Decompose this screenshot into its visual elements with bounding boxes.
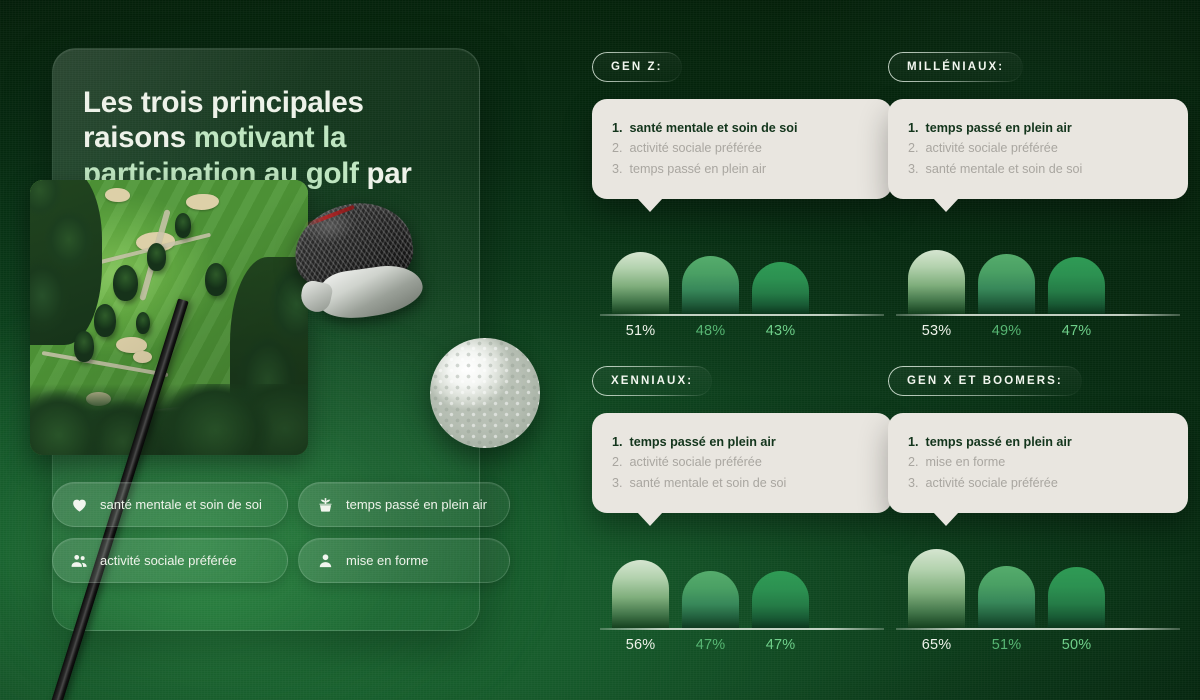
rank-item-1: 1. temps passé en plein air bbox=[908, 432, 1168, 452]
golf-driver-head bbox=[282, 190, 425, 327]
bar bbox=[682, 256, 739, 314]
bar bbox=[978, 254, 1035, 314]
rank-item-1: 1. temps passé en plein air bbox=[908, 118, 1168, 138]
rank-label: santé mentale et soin de soi bbox=[926, 159, 1083, 179]
people-icon bbox=[70, 551, 89, 570]
golf-ball bbox=[430, 338, 540, 448]
bar bbox=[682, 571, 739, 628]
bar bbox=[752, 262, 809, 314]
rank-item-3: 3. santé mentale et soin de soi bbox=[612, 473, 872, 493]
panel-bubble: 1. temps passé en plein air 2. mise en f… bbox=[888, 413, 1188, 513]
title-line-1: Les trois principales bbox=[83, 86, 364, 119]
legend-item-label: temps passé en plein air bbox=[346, 497, 487, 512]
bar-baseline bbox=[600, 628, 884, 630]
rank-label: activité sociale préférée bbox=[630, 138, 762, 158]
legend-item-activite-sociale[interactable]: activité sociale préférée bbox=[52, 538, 288, 583]
bar-track bbox=[888, 543, 1188, 628]
panel-chip: XENNIAUX: bbox=[592, 366, 712, 396]
rank-label: activité sociale préférée bbox=[630, 452, 762, 472]
legend-item-label: activité sociale préférée bbox=[100, 553, 237, 568]
title-line-2-white: raisons bbox=[83, 121, 194, 154]
bar-value-label: 49% bbox=[978, 323, 1035, 339]
bar-chart: 53% 49% 47% bbox=[888, 229, 1188, 336]
rank-number: 1. bbox=[908, 118, 919, 138]
rank-item-2: 2. activité sociale préférée bbox=[612, 452, 872, 472]
panel-xenniaux: XENNIAUX: 1. temps passé en plein air 2.… bbox=[592, 366, 892, 650]
bar bbox=[908, 250, 965, 314]
rank-label: temps passé en plein air bbox=[926, 432, 1072, 452]
rank-item-2: 2. activité sociale préférée bbox=[908, 138, 1168, 158]
legend-row: santé mentale et soin de soi temps passé… bbox=[52, 482, 552, 527]
bar bbox=[1048, 567, 1105, 628]
bar bbox=[978, 566, 1035, 628]
bar-labels: 56% 47% 47% bbox=[592, 637, 892, 653]
panel-bubble: 1. temps passé en plein air 2. activité … bbox=[592, 413, 892, 513]
bar bbox=[1048, 257, 1105, 314]
rank-item-2: 2. mise en forme bbox=[908, 452, 1168, 472]
legend: santé mentale et soin de soi temps passé… bbox=[52, 482, 552, 594]
bar-value-label: 48% bbox=[682, 323, 739, 339]
rank-label: activité sociale préférée bbox=[926, 138, 1058, 158]
bar bbox=[908, 549, 965, 628]
bar-labels: 51% 48% 43% bbox=[592, 323, 892, 339]
legend-item-plein-air[interactable]: temps passé en plein air bbox=[298, 482, 510, 527]
bar bbox=[612, 560, 669, 628]
person-icon bbox=[316, 551, 335, 570]
rank-label: temps passé en plein air bbox=[630, 432, 776, 452]
rank-item-3: 3. santé mentale et soin de soi bbox=[908, 159, 1168, 179]
rank-number: 2. bbox=[908, 452, 919, 472]
rank-label: mise en forme bbox=[926, 452, 1006, 472]
legend-item-label: santé mentale et soin de soi bbox=[100, 497, 262, 512]
bar-chart: 56% 47% 47% bbox=[592, 543, 892, 650]
rank-label: activité sociale préférée bbox=[926, 473, 1058, 493]
bar bbox=[752, 571, 809, 628]
rank-number: 2. bbox=[612, 452, 623, 472]
rank-number: 3. bbox=[612, 159, 623, 179]
rank-number: 1. bbox=[612, 118, 623, 138]
bar-value-label: 47% bbox=[682, 637, 739, 653]
bar-labels: 53% 49% 47% bbox=[888, 323, 1188, 339]
bar-baseline bbox=[600, 314, 884, 316]
legend-row: activité sociale préférée mise en forme bbox=[52, 538, 552, 583]
rank-item-2: 2. activité sociale préférée bbox=[612, 138, 872, 158]
rank-label: santé mentale et soin de soi bbox=[630, 473, 787, 493]
rank-number: 3. bbox=[908, 473, 919, 493]
golf-ball-dimples-highlight bbox=[430, 338, 540, 448]
panel-chip: GEN X ET BOOMERS: bbox=[888, 366, 1082, 396]
bar-track bbox=[592, 229, 892, 314]
panel-gen-z: GEN Z: 1. santé mentale et soin de soi 2… bbox=[592, 52, 892, 336]
bar-value-label: 50% bbox=[1048, 637, 1105, 653]
panel-bubble: 1. santé mentale et soin de soi 2. activ… bbox=[592, 99, 892, 199]
rank-number: 2. bbox=[908, 138, 919, 158]
bar-chart: 51% 48% 43% bbox=[592, 229, 892, 336]
rank-label: temps passé en plein air bbox=[926, 118, 1072, 138]
panel-gen-x-et-boomers: GEN X ET BOOMERS: 1. temps passé en plei… bbox=[888, 366, 1188, 650]
aerial-golf-course-photo bbox=[30, 180, 308, 455]
rank-label: santé mentale et soin de soi bbox=[630, 118, 798, 138]
rank-number: 3. bbox=[612, 473, 623, 493]
legend-item-mise-en-forme[interactable]: mise en forme bbox=[298, 538, 510, 583]
rank-item-1: 1. santé mentale et soin de soi bbox=[612, 118, 872, 138]
bar-labels: 65% 51% 50% bbox=[888, 637, 1188, 653]
bar-chart: 65% 51% 50% bbox=[888, 543, 1188, 650]
bar-value-label: 47% bbox=[752, 637, 809, 653]
bar-value-label: 51% bbox=[978, 637, 1035, 653]
rank-item-3: 3. temps passé en plein air bbox=[612, 159, 872, 179]
panel-milleniaux: MILLÉNIAUX: 1. temps passé en plein air … bbox=[888, 52, 1188, 336]
bar-value-label: 65% bbox=[908, 637, 965, 653]
rank-number: 1. bbox=[908, 432, 919, 452]
rank-item-3: 3. activité sociale préférée bbox=[908, 473, 1168, 493]
panel-bubble: 1. temps passé en plein air 2. activité … bbox=[888, 99, 1188, 199]
bar-track bbox=[592, 543, 892, 628]
photo-shading bbox=[30, 180, 308, 455]
panel-chip: MILLÉNIAUX: bbox=[888, 52, 1023, 82]
bar-value-label: 43% bbox=[752, 323, 809, 339]
bar-track bbox=[888, 229, 1188, 314]
heart-icon bbox=[70, 495, 89, 514]
legend-item-label: mise en forme bbox=[346, 553, 428, 568]
potted-plant-icon bbox=[316, 495, 335, 514]
rank-number: 2. bbox=[612, 138, 623, 158]
rank-label: temps passé en plein air bbox=[630, 159, 767, 179]
bar-value-label: 47% bbox=[1048, 323, 1105, 339]
legend-item-sante-mentale[interactable]: santé mentale et soin de soi bbox=[52, 482, 288, 527]
title-line-3-white: par bbox=[367, 157, 412, 190]
bar-baseline bbox=[896, 314, 1180, 316]
bar-value-label: 56% bbox=[612, 637, 669, 653]
rank-number: 1. bbox=[612, 432, 623, 452]
panel-chip: GEN Z: bbox=[592, 52, 682, 82]
bar-value-label: 53% bbox=[908, 323, 965, 339]
rank-number: 3. bbox=[908, 159, 919, 179]
title-line-2-accent: motivant la bbox=[194, 121, 346, 154]
bar-baseline bbox=[896, 628, 1180, 630]
rank-item-1: 1. temps passé en plein air bbox=[612, 432, 872, 452]
bar-value-label: 51% bbox=[612, 323, 669, 339]
infographic-canvas: Les trois principales raisons motivant l… bbox=[0, 0, 1200, 700]
bar bbox=[612, 252, 669, 314]
